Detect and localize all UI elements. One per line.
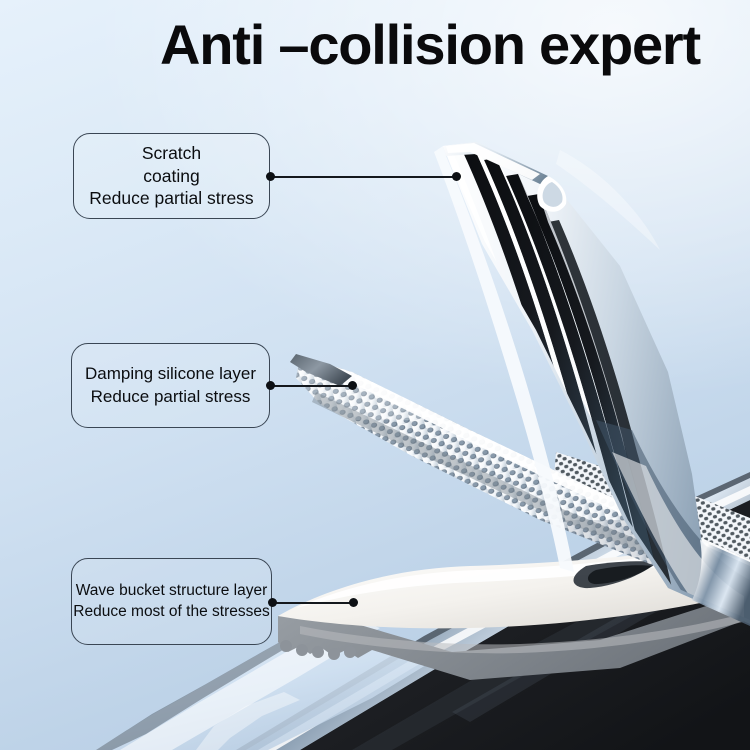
callout-3-line-2: Reduce most of the stresses (73, 602, 269, 622)
callout-1-line-1: Scratch (89, 142, 253, 165)
leader-dot-box-wave-bucket-structure-layer (268, 598, 277, 607)
leader-dot-target-wave-bucket-structure-layer (349, 598, 358, 607)
leader-line-damping-silicone-layer (270, 385, 352, 387)
page-title: Anti –collision expert (160, 16, 750, 75)
callout-damping-silicone-layer: Damping silicone layer Reduce partial st… (71, 343, 270, 428)
callout-1-line-2: coating (89, 165, 253, 188)
leader-dot-target-scratch-coating (452, 172, 461, 181)
product-infographic: Anti –collision expert (0, 0, 750, 750)
leader-line-wave-bucket-structure-layer (272, 602, 353, 604)
leader-dot-box-damping-silicone-layer (266, 381, 275, 390)
leader-line-scratch-coating (270, 176, 456, 178)
callout-2-line-2: Reduce partial stress (85, 386, 256, 408)
callout-wave-bucket-structure-layer: Wave bucket structure layer Reduce most … (71, 558, 272, 645)
callout-3-line-1: Wave bucket structure layer (73, 581, 269, 601)
callout-2-line-1: Damping silicone layer (85, 363, 256, 385)
callout-scratch-coating: Scratch coating Reduce partial stress (73, 133, 270, 219)
callout-1-line-3: Reduce partial stress (89, 187, 253, 210)
leader-dot-box-scratch-coating (266, 172, 275, 181)
leader-dot-target-damping-silicone-layer (348, 381, 357, 390)
